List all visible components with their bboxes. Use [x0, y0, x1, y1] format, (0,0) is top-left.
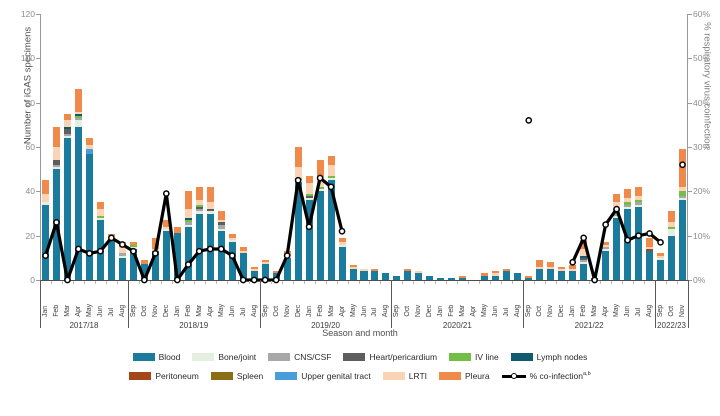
- bar-Jun-29[interactable]: [360, 269, 367, 280]
- month-tick-36: [435, 281, 436, 284]
- month-tick-7: [117, 281, 118, 284]
- bar-Nov-22[interactable]: [284, 251, 291, 280]
- y-tick-right-10: 10%: [693, 231, 720, 241]
- legend-line-marker-icon: [502, 372, 526, 380]
- legend-swatch-icon: [192, 353, 214, 361]
- bar-segment-blood: [360, 271, 367, 280]
- y-tick-left-0: 0: [8, 275, 35, 285]
- bar-Oct-9[interactable]: [141, 260, 148, 280]
- season-label-2017-18: 2017/18: [40, 321, 128, 330]
- bar-Jul-18[interactable]: [240, 247, 247, 280]
- bar-segment-blood: [262, 264, 269, 280]
- bar-segment-blood: [404, 271, 411, 280]
- y-tick-right-30: 30%: [693, 142, 720, 152]
- month-tick-41: [490, 281, 491, 284]
- bar-segment-lrti: [119, 247, 126, 254]
- bar-segment-blood: [657, 260, 664, 280]
- bar-segment-pleura: [152, 238, 159, 249]
- legend-item-upper-genital-tract[interactable]: Upper genital tract: [275, 371, 370, 381]
- month-tick-4: [84, 281, 85, 284]
- chart-root: Number of iGAS specimens % respiratory v…: [0, 0, 720, 416]
- bar-Feb-13[interactable]: [185, 191, 192, 280]
- bar-segment-pleura: [53, 127, 60, 147]
- legend-item-lrti[interactable]: LRTI: [383, 371, 427, 381]
- month-tick-17: [227, 281, 228, 284]
- month-tick-19: [249, 281, 250, 284]
- month-tick-24: [304, 281, 305, 284]
- bar-segment-blood: [240, 253, 247, 280]
- bar-Feb-49[interactable]: [580, 240, 587, 280]
- bar-segment-blood: [613, 218, 620, 280]
- y-tick-right-20: 20%: [693, 186, 720, 196]
- y-tick-left-20: 20: [8, 231, 35, 241]
- bar-segment-lrti: [580, 249, 587, 256]
- legend-label: Peritoneum: [155, 371, 198, 381]
- season-label-2019-20: 2019/20: [260, 321, 392, 330]
- bar-segment-lrti: [328, 165, 335, 176]
- bar-Aug-19[interactable]: [251, 267, 258, 280]
- bar-Nov-34[interactable]: [415, 271, 422, 280]
- bar-segment-blood: [64, 138, 71, 280]
- season-divider-0: [40, 280, 41, 328]
- bar-segment-blood: [492, 276, 499, 280]
- bar-segment-blood: [679, 200, 686, 280]
- y-axis-left-line: [40, 14, 41, 281]
- bar-Jul-54[interactable]: [635, 187, 642, 280]
- bar-Jul-42[interactable]: [503, 269, 510, 280]
- bar-segment-blood: [602, 251, 609, 280]
- bar-segment-blood: [580, 264, 587, 280]
- bar-Feb-37[interactable]: [448, 278, 455, 280]
- bar-Nov-46[interactable]: [547, 262, 554, 280]
- month-tick-49: [578, 281, 579, 284]
- bar-segment-pleura: [317, 160, 324, 178]
- season-label-2018-19: 2018/19: [128, 321, 260, 330]
- season-divider-end: [688, 280, 689, 328]
- bar-segment-blood: [569, 271, 576, 280]
- bar-Mar-38[interactable]: [459, 276, 466, 280]
- bar-segment-blood: [97, 220, 104, 280]
- bar-segment-blood: [306, 200, 313, 280]
- bar-segment-blood: [415, 273, 422, 280]
- bar-Jul-6[interactable]: [108, 234, 115, 281]
- legend-item-bone-joint[interactable]: Bone/joint: [192, 352, 256, 362]
- bar-Jan-36[interactable]: [437, 278, 444, 280]
- legend-label: Heart/pericardium: [369, 352, 437, 362]
- legend-label: Bone/joint: [218, 352, 256, 362]
- coinfection-point-27[interactable]: [339, 229, 344, 234]
- bar-segment-pleura: [207, 187, 214, 203]
- bar-segment-blood: [536, 269, 543, 280]
- bar-segment-lrti: [185, 209, 192, 218]
- bar-segment-blood: [459, 278, 466, 280]
- bar-Jun-5[interactable]: [97, 202, 104, 280]
- legend-swatch-icon: [275, 372, 297, 380]
- month-tick-43: [512, 281, 513, 284]
- month-tick-16: [216, 281, 217, 284]
- bar-Aug-55[interactable]: [646, 238, 653, 280]
- legend-item-cns-csf[interactable]: CNS/CSF: [268, 352, 331, 362]
- bar-Apr-51[interactable]: [602, 242, 609, 280]
- legend-item-peritoneum[interactable]: Peritoneum: [129, 371, 198, 381]
- bar-segment-pleura: [97, 202, 104, 209]
- month-tick-55: [644, 281, 645, 284]
- bar-segment-bone-joint: [75, 120, 82, 127]
- legend-item-blood[interactable]: Blood: [133, 352, 181, 362]
- legend-item-pleura[interactable]: Pleura: [439, 371, 490, 381]
- bar-segment-blood: [350, 269, 357, 280]
- bar-segment-blood: [503, 271, 510, 280]
- bar-segment-pleura: [218, 211, 225, 220]
- bar-segment-blood: [481, 276, 488, 280]
- bar-segment-blood: [75, 127, 82, 280]
- legend-label: Pleura: [465, 371, 490, 381]
- bar-segment-pleura: [328, 156, 335, 165]
- bar-Apr-27[interactable]: [339, 238, 346, 280]
- bar-Jul-30[interactable]: [371, 269, 378, 280]
- bar-Feb-1[interactable]: [53, 127, 60, 280]
- bar-segment-blood: [426, 276, 433, 280]
- bar-Sep-32[interactable]: [393, 276, 400, 280]
- month-tick-6: [106, 281, 107, 284]
- legend-row-1: BloodBone/jointCNS/CSFHeart/pericardiumI…: [0, 352, 720, 362]
- month-tick-23: [293, 281, 294, 284]
- season-divider-5: [655, 280, 656, 328]
- y-tick-left-40: 40: [8, 186, 35, 196]
- bar-segment-blood: [339, 247, 346, 280]
- season-label-2022-23: 2022/23: [655, 321, 688, 330]
- bar-segment-blood: [668, 236, 675, 280]
- month-tick-27: [337, 281, 338, 284]
- chart-legend: BloodBone/jointCNS/CSFHeart/pericardiumI…: [0, 352, 720, 398]
- bar-Aug-31[interactable]: [382, 273, 389, 280]
- bar-segment-blood: [547, 269, 554, 280]
- bar-segment-pleura: [668, 211, 675, 222]
- legend-swatch-icon: [511, 353, 533, 361]
- legend-label: LRTI: [409, 371, 427, 381]
- coinfection-point-55[interactable]: [647, 231, 652, 236]
- bar-Apr-3[interactable]: [75, 89, 82, 280]
- legend-item-iv-line[interactable]: IV line: [449, 352, 499, 362]
- month-tick-11: [161, 281, 162, 284]
- bar-Sep-20[interactable]: [262, 260, 269, 280]
- bar-segment-pleura: [196, 187, 203, 200]
- legend-swatch-icon: [268, 353, 290, 361]
- bar-segment-blood: [251, 271, 258, 280]
- month-tick-15: [205, 281, 206, 284]
- y-tick-left-80: 80: [8, 98, 35, 108]
- x-axis-season-labels: 2017/182018/192019/202020/212021/222022/…: [40, 316, 688, 338]
- legend-swatch-icon: [343, 353, 365, 361]
- legend-superscript: a,b: [583, 371, 591, 377]
- month-tick-28: [348, 281, 349, 284]
- bar-segment-pleura: [536, 260, 543, 267]
- month-tick-31: [380, 281, 381, 284]
- season-divider-2: [260, 280, 261, 328]
- bar-segment-pleura: [42, 180, 49, 193]
- month-tick-22: [282, 281, 283, 284]
- bar-segment-blood: [163, 231, 170, 280]
- bar-segment-lrti: [317, 178, 324, 187]
- bar-segment-blood: [635, 207, 642, 280]
- bar-segment-blood: [42, 205, 49, 280]
- bar-Feb-25[interactable]: [317, 160, 324, 280]
- bar-Jan-24[interactable]: [306, 176, 313, 280]
- coinfection-line-overlay: [40, 14, 688, 281]
- bar-Jun-53[interactable]: [624, 189, 631, 280]
- coinfection-point-51[interactable]: [603, 222, 608, 227]
- bar-segment-blood: [591, 278, 598, 280]
- bar-segment-blood: [185, 227, 192, 280]
- month-tick-48: [567, 281, 568, 284]
- bar-segment-blood: [196, 214, 203, 281]
- legend-label: Upper genital tract: [301, 371, 370, 381]
- bar-segment-blood: [558, 271, 565, 280]
- bar-segment-blood: [646, 251, 653, 280]
- bar-Mar-50[interactable]: [591, 278, 598, 280]
- bar-segment-blood: [295, 182, 302, 280]
- month-tick-3: [73, 281, 74, 284]
- bar-Jan-48[interactable]: [569, 265, 576, 280]
- legend-swatch-icon: [211, 372, 233, 380]
- bar-Mar-26[interactable]: [328, 156, 335, 280]
- month-tick-35: [424, 281, 425, 284]
- bar-segment-pleura: [163, 220, 170, 227]
- bar-Jun-17[interactable]: [229, 234, 236, 281]
- bar-segment-lrti: [53, 147, 60, 160]
- month-tick-26: [326, 281, 327, 284]
- bar-segment-blood: [448, 278, 455, 280]
- month-tick-13: [183, 281, 184, 284]
- bar-segment-blood: [218, 231, 225, 280]
- bar-Aug-7[interactable]: [119, 242, 126, 280]
- legend-item-lymph-nodes[interactable]: Lymph nodes: [511, 352, 588, 362]
- bar-May-52[interactable]: [613, 194, 620, 280]
- bar-segment-pleura: [306, 176, 313, 183]
- bar-Jun-41[interactable]: [492, 271, 499, 280]
- bar-Dec-11[interactable]: [163, 220, 170, 280]
- season-divider-3: [391, 280, 392, 328]
- bar-segment-pleura: [295, 147, 302, 167]
- bar-segment-blood: [273, 273, 280, 280]
- bar-May-40[interactable]: [481, 273, 488, 280]
- legend-swatch-icon: [129, 372, 151, 380]
- month-tick-39: [468, 281, 469, 284]
- bar-segment-blood: [207, 214, 214, 281]
- month-tick-47: [556, 281, 557, 284]
- y-tick-right-60: 60%: [693, 9, 720, 19]
- legend-label: IV line: [475, 352, 499, 362]
- bar-segment-blood: [317, 191, 324, 280]
- y-tick-left-120: 120: [8, 9, 35, 19]
- month-tick-1: [51, 281, 52, 284]
- bar-segment-lrti: [207, 202, 214, 209]
- bar-Nov-58[interactable]: [679, 149, 686, 280]
- bar-segment-lrti: [97, 209, 104, 216]
- month-tick-58: [677, 281, 678, 284]
- bar-segment-pleura: [185, 191, 192, 209]
- month-tick-9: [139, 281, 140, 284]
- bar-Oct-21[interactable]: [273, 271, 280, 280]
- bar-segment-blood: [86, 154, 93, 280]
- month-tick-12: [172, 281, 173, 284]
- month-tick-33: [402, 281, 403, 284]
- bar-segment-blood: [53, 169, 60, 280]
- bar-Oct-57[interactable]: [668, 211, 675, 280]
- month-tick-30: [369, 281, 370, 284]
- y-tick-left-60: 60: [8, 142, 35, 152]
- month-tick-46: [545, 281, 546, 284]
- month-tick-42: [501, 281, 502, 284]
- x-axis-month-labels: JanFebMarAprMayJunJulAugSepOctNovDecJanF…: [40, 281, 688, 317]
- bar-Sep-44[interactable]: [525, 276, 532, 280]
- legend-item-co-infection[interactable]: % co-infectiona,b: [502, 371, 591, 381]
- bar-Nov-10[interactable]: [152, 238, 159, 280]
- month-tick-29: [359, 281, 360, 284]
- bar-May-28[interactable]: [350, 265, 357, 280]
- bar-Apr-15[interactable]: [207, 187, 214, 280]
- bar-Oct-33[interactable]: [404, 269, 411, 280]
- bar-segment-bone-joint: [668, 229, 675, 236]
- bar-segment-pleura: [679, 149, 686, 187]
- month-tick-14: [194, 281, 195, 284]
- legend-swatch-icon: [439, 372, 461, 380]
- month-tick-38: [457, 281, 458, 284]
- bar-segment-lrti: [42, 194, 49, 203]
- legend-swatch-icon: [133, 353, 155, 361]
- plot-area: 020406080100120 0%10%20%30%40%50%60%: [40, 14, 688, 280]
- bar-Dec-23[interactable]: [295, 147, 302, 280]
- bar-Mar-2[interactable]: [64, 114, 71, 280]
- bar-segment-blood: [108, 240, 115, 280]
- month-tick-5: [95, 281, 96, 284]
- bar-Sep-8[interactable]: [130, 242, 137, 280]
- bar-segment-pleura: [64, 114, 71, 121]
- y-tick-right-50: 50%: [693, 53, 720, 63]
- month-tick-50: [589, 281, 590, 284]
- month-tick-57: [666, 281, 667, 284]
- month-tick-34: [413, 281, 414, 284]
- bar-segment-blood: [525, 278, 532, 280]
- bar-Mar-14[interactable]: [196, 187, 203, 280]
- month-tick-25: [315, 281, 316, 284]
- legend-row-2: PeritoneumSpleenUpper genital tractLRTIP…: [0, 371, 720, 381]
- bar-segment-blood: [141, 264, 148, 280]
- bar-segment-blood: [152, 251, 159, 280]
- coinfection-point-11[interactable]: [164, 191, 169, 196]
- bar-May-4[interactable]: [86, 138, 93, 280]
- season-divider-4: [523, 280, 524, 328]
- bar-Jan-12[interactable]: [174, 227, 181, 280]
- month-tick-21: [271, 281, 272, 284]
- legend-label: Lymph nodes: [537, 352, 588, 362]
- month-tick-45: [534, 281, 535, 284]
- season-label-2021-22: 2021/22: [523, 321, 655, 330]
- bar-segment-blood: [371, 271, 378, 280]
- month-tick-51: [600, 281, 601, 284]
- month-tick-18: [238, 281, 239, 284]
- bar-Oct-45[interactable]: [536, 260, 543, 280]
- season-divider-1: [128, 280, 129, 328]
- month-tick-37: [446, 281, 447, 284]
- month-tick-53: [622, 281, 623, 284]
- bar-segment-blood: [514, 273, 521, 280]
- bar-segment-blood: [437, 278, 444, 280]
- bar-segment-pleura: [646, 238, 653, 247]
- coinfection-point-56[interactable]: [658, 240, 663, 245]
- bar-segment-pleura: [635, 187, 642, 196]
- legend-item-heart-pericardium[interactable]: Heart/pericardium: [343, 352, 437, 362]
- month-tick-52: [611, 281, 612, 284]
- month-tick-54: [633, 281, 634, 284]
- bar-Jan-0[interactable]: [42, 180, 49, 280]
- legend-item-spleen[interactable]: Spleen: [211, 371, 263, 381]
- season-label-2020-21: 2020/21: [391, 321, 523, 330]
- bar-segment-lrti: [295, 167, 302, 178]
- bar-segment-blood: [624, 209, 631, 280]
- bar-segment-blood: [328, 180, 335, 280]
- bar-segment-lrti: [64, 120, 71, 127]
- bar-segment-pleura: [174, 227, 181, 234]
- y-tick-right-40: 40%: [693, 98, 720, 108]
- bar-segment-blood: [119, 258, 126, 280]
- y-tick-right-0: 0%: [693, 275, 720, 285]
- bar-segment-pleura: [580, 240, 587, 249]
- bar-segment-blood: [382, 273, 389, 280]
- legend-swatch-icon: [383, 372, 405, 380]
- y-tick-left-100: 100: [8, 53, 35, 63]
- bar-Aug-43[interactable]: [514, 273, 521, 280]
- month-tick-10: [150, 281, 151, 284]
- bar-segment-pleura: [86, 138, 93, 145]
- bar-Sep-56[interactable]: [657, 253, 664, 280]
- bar-Dec-35[interactable]: [426, 276, 433, 280]
- bar-segment-blood: [393, 276, 400, 280]
- bar-segment-pleura: [624, 189, 631, 198]
- bar-segment-lrti: [306, 183, 313, 194]
- bar-segment-blood: [284, 258, 291, 280]
- month-tick-40: [479, 281, 480, 284]
- bar-segment-blood: [130, 249, 137, 280]
- legend-label: % co-infectiona,b: [530, 371, 591, 381]
- coinfection-point-isolated-44[interactable]: [526, 118, 531, 123]
- bar-Dec-47[interactable]: [558, 267, 565, 280]
- month-tick-2: [62, 281, 63, 284]
- bar-segment-pleura: [75, 89, 82, 111]
- bar-segment-blood: [174, 233, 181, 280]
- bar-May-16[interactable]: [218, 211, 225, 280]
- bar-segment-lrti: [613, 202, 620, 209]
- legend-swatch-icon: [449, 353, 471, 361]
- legend-label: Blood: [159, 352, 181, 362]
- legend-label: CNS/CSF: [294, 352, 331, 362]
- bar-segment-blood: [229, 242, 236, 280]
- legend-label: Spleen: [237, 371, 263, 381]
- bar-segment-pleura: [613, 194, 620, 203]
